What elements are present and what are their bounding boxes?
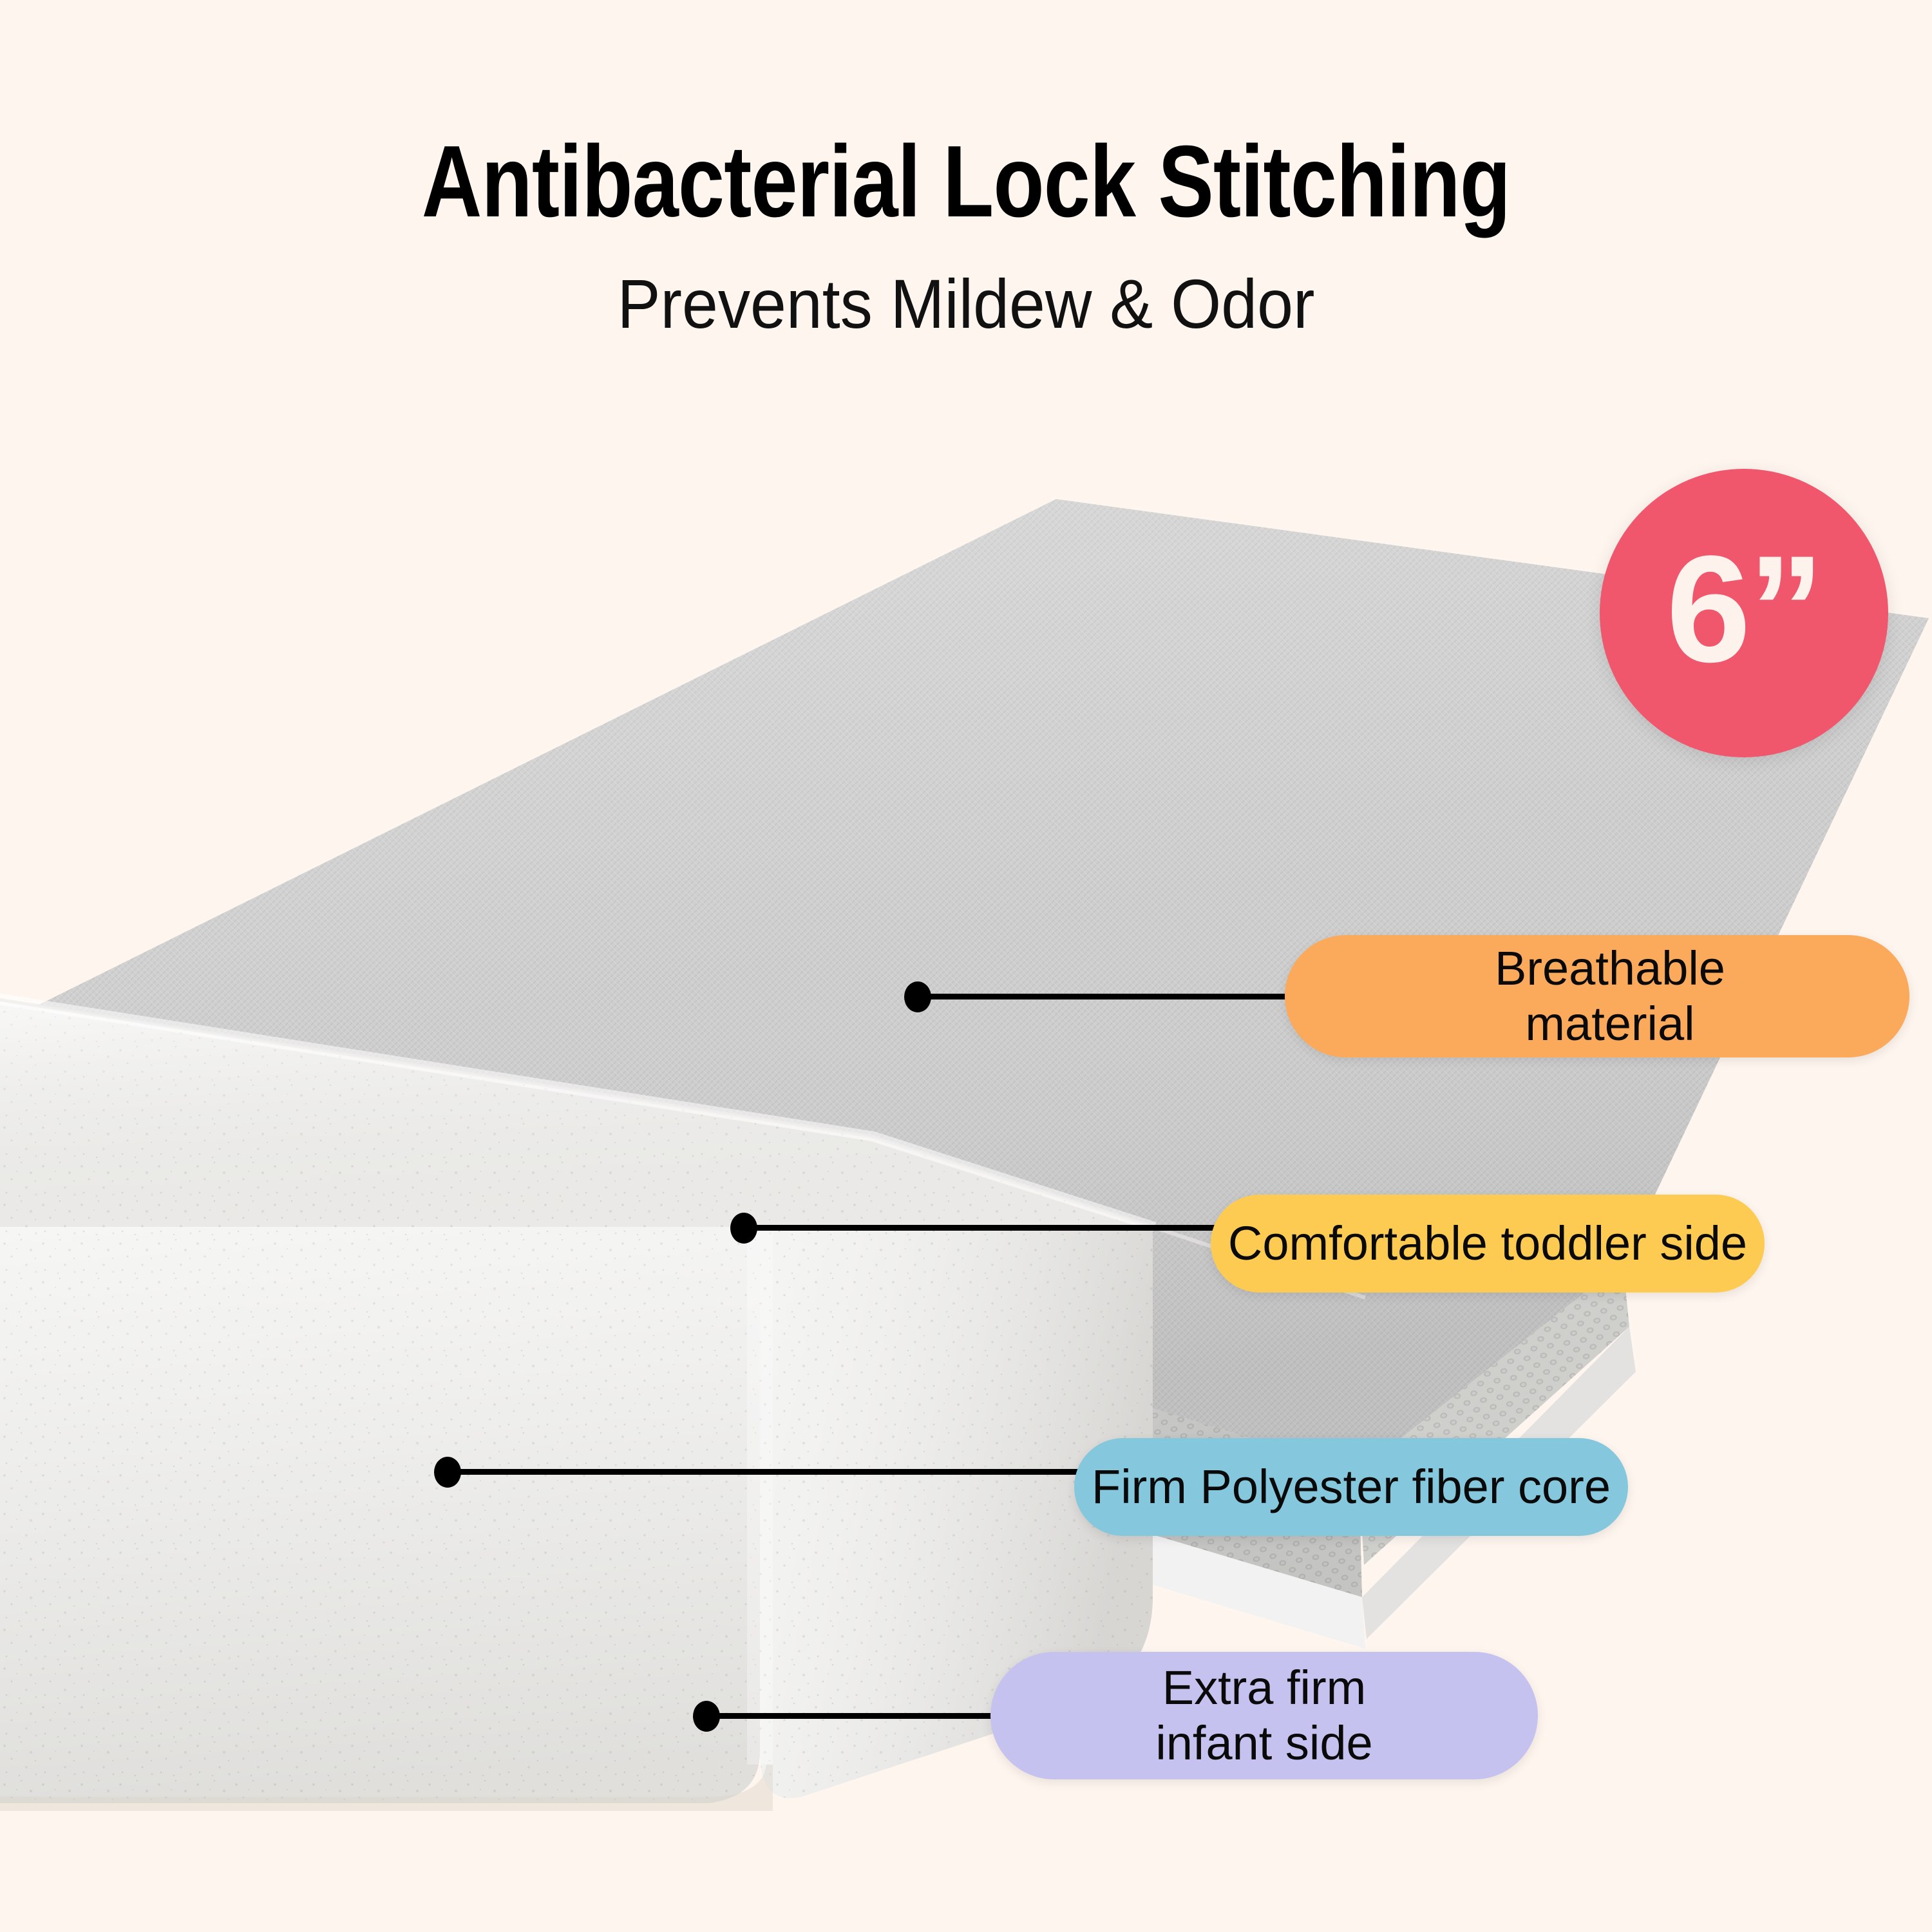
callout-label-infant-side: Extra firm infant side xyxy=(990,1652,1538,1779)
callout-line-fiber-core xyxy=(457,1469,1114,1475)
callout-line-infant-side xyxy=(716,1713,1032,1719)
callout-line-breathable-material xyxy=(927,994,1327,999)
callout-label-fiber-core: Firm Polyester fiber core xyxy=(1074,1438,1628,1536)
size-badge-value: 6” xyxy=(1666,533,1821,685)
size-badge: 6” xyxy=(1600,469,1888,757)
infographic-canvas: Antibacterial Lock Stitching Prevents Mi… xyxy=(0,0,1932,1932)
page-title: Antibacterial Lock Stitching xyxy=(174,129,1758,236)
page-subtitle: Prevents Mildew & Odor xyxy=(68,267,1864,340)
callout-label-toddler-side: Comfortable toddler side xyxy=(1211,1195,1765,1293)
callout-label-breathable-material: Breathable material xyxy=(1285,935,1909,1057)
callout-line-toddler-side xyxy=(753,1225,1262,1231)
